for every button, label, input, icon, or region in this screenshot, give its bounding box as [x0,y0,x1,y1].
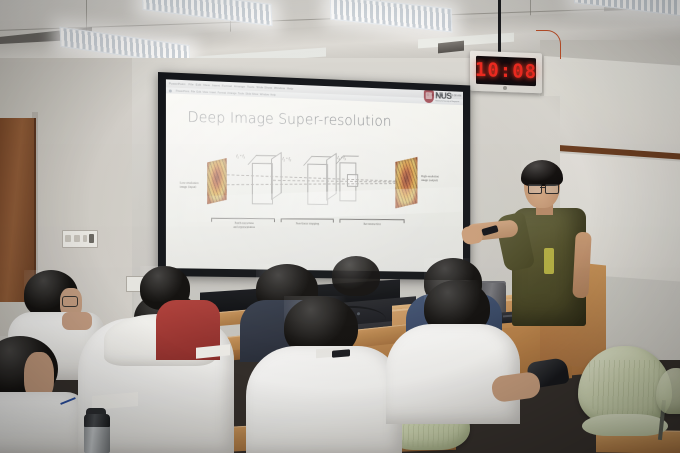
student-torso [246,346,402,453]
conv-layer-2-side [326,153,336,201]
low-resolution-input-image [207,158,226,204]
menubar-app-name[interactable]: PowerPoint [169,81,186,86]
stage-brace-3 [339,219,404,220]
student-glasses [62,296,78,307]
stage-label-1: Patch extractionand representation [207,222,280,230]
eyeglasses-bridge [540,187,545,188]
whiteboard [544,56,680,160]
layer-2-filter-label: f2 × f2 [283,156,291,162]
nus-logo: NUS National University of Singapore [423,90,459,104]
clock-time-text: 10:08 [475,60,537,81]
input-label: Low-resolutionimage (input) [180,182,199,190]
student-torso [386,324,520,424]
chair-seat[interactable] [582,414,668,436]
nus-crest-icon [423,90,433,103]
layer-1-filter-label: f1 × f1 [236,154,244,160]
presenter-shirt-print [544,248,554,274]
stage-brace-2 [281,218,334,219]
clock-button[interactable] [503,86,507,90]
stage-label-3: Reconstruction [338,223,407,227]
eyeglasses-right-lens [545,184,559,194]
srcnn-diagram: Low-resolutionimage (input) f1 × f1 f2 ×… [194,138,442,237]
projection-screen: PowerPoint File Edit View Insert Format … [158,72,470,280]
slide-title: Deep Image Super-resolution [188,110,392,130]
output-label: High-resolutionimage (output) [421,175,439,183]
presenter-hair [521,160,563,186]
high-resolution-output-image [395,157,417,208]
apple-menu-icon[interactable] [169,89,172,92]
layer-3-filter-label: f3 × f3 [338,155,346,161]
student-hands [62,312,92,330]
eyeglasses-left-lens [528,184,542,194]
slide-canvas: Deep Image Super-resolution Low-resoluti… [166,93,463,272]
stage-label-2: Non-linear mapping [277,222,338,226]
wall-control-panel[interactable] [62,230,98,248]
stage-brace-1 [211,218,275,219]
clock-support-pole [498,0,501,54]
flask-cap[interactable] [84,414,110,427]
student-head [332,256,380,296]
nus-subtitle: National University of Singapore [435,100,459,103]
lecture-room-photo: 10:08 PowerPoint File Edit View Insert F… [0,0,680,453]
wall-clock-display: 10:08 [476,56,536,86]
student-torso [0,392,88,453]
projected-slide: PowerPoint File Edit View Insert Format … [166,79,463,272]
